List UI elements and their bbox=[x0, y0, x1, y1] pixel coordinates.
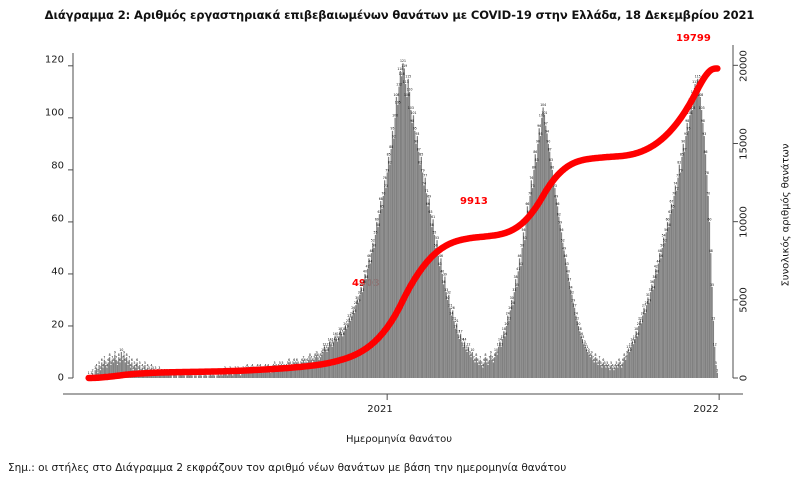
bar-value-label: 2 bbox=[217, 369, 219, 373]
bar-value-label: 66 bbox=[556, 202, 560, 206]
bar bbox=[223, 373, 224, 378]
bar bbox=[536, 162, 537, 378]
bar bbox=[550, 162, 551, 378]
bar-value-label: 103 bbox=[690, 106, 696, 110]
bar-value-label: 12 bbox=[713, 343, 717, 347]
bar bbox=[248, 370, 249, 378]
bar-value-label: 16 bbox=[333, 332, 337, 336]
bar bbox=[660, 258, 661, 378]
bar-value-label: 26 bbox=[451, 306, 455, 310]
bar bbox=[563, 251, 564, 378]
bar-value-label: 8 bbox=[494, 353, 496, 357]
bar bbox=[148, 370, 149, 378]
bar-value-label: 55 bbox=[374, 231, 378, 235]
bar-value-label: 37 bbox=[567, 278, 571, 282]
bar bbox=[308, 360, 309, 378]
bar bbox=[156, 375, 157, 378]
bar bbox=[480, 360, 481, 378]
bar bbox=[102, 368, 103, 378]
bar bbox=[448, 295, 449, 378]
bar-value-label: 2 bbox=[140, 369, 142, 373]
bar bbox=[470, 357, 471, 378]
bar bbox=[611, 365, 612, 378]
bar-value-label: 10 bbox=[119, 348, 123, 352]
bar-value-label: 4 bbox=[147, 363, 149, 367]
bar-value-label: 1 bbox=[183, 371, 185, 375]
bar-value-label: 70 bbox=[706, 192, 710, 196]
axes-layer bbox=[63, 45, 743, 400]
bar-value-label: 6 bbox=[312, 358, 314, 362]
bar-value-label: 3 bbox=[143, 366, 145, 370]
bar bbox=[324, 347, 325, 378]
bar bbox=[219, 375, 220, 378]
bar bbox=[343, 331, 344, 378]
bar bbox=[244, 373, 245, 378]
bar-value-label: 46 bbox=[367, 254, 371, 258]
bar-value-label: 61 bbox=[431, 215, 435, 219]
bar-value-label: 7 bbox=[479, 356, 481, 360]
bar-value-label: 63 bbox=[668, 210, 672, 214]
bar-value-label: 31 bbox=[646, 293, 650, 297]
bar-value-label: 1 bbox=[208, 371, 210, 375]
bar bbox=[554, 188, 555, 378]
bar-value-label: 3 bbox=[276, 366, 278, 370]
bar bbox=[169, 373, 170, 378]
bar-value-label: 56 bbox=[664, 228, 668, 232]
bar-value-label: 3 bbox=[268, 366, 270, 370]
bar bbox=[123, 355, 124, 378]
bar bbox=[281, 368, 282, 378]
bar-value-label: 6 bbox=[477, 358, 479, 362]
bar-value-label: 108 bbox=[697, 93, 703, 97]
bar bbox=[463, 347, 464, 378]
bar bbox=[438, 256, 439, 378]
bar-value-label: 14 bbox=[332, 337, 336, 341]
bar bbox=[317, 357, 318, 378]
bar-value-label: 3 bbox=[261, 366, 263, 370]
bar bbox=[253, 370, 254, 378]
bar bbox=[326, 352, 327, 378]
bar-value-label: 110 bbox=[693, 88, 699, 92]
bar-value-label: 34 bbox=[651, 285, 655, 289]
bar-value-label: 27 bbox=[448, 304, 452, 308]
bar-value-label: 76 bbox=[529, 176, 533, 180]
x-axis-label: Ημερομηνία θανάτου bbox=[346, 434, 452, 445]
bar bbox=[153, 373, 154, 378]
bar bbox=[473, 360, 474, 378]
bar-value-label: 2 bbox=[230, 369, 232, 373]
bar bbox=[670, 214, 671, 378]
bar-value-label: 9 bbox=[114, 350, 116, 354]
bar bbox=[588, 355, 589, 378]
cumulative-line bbox=[89, 68, 718, 378]
bar bbox=[600, 365, 601, 378]
bar bbox=[181, 375, 182, 378]
bar-value-label: 73 bbox=[384, 184, 388, 188]
bar bbox=[269, 370, 270, 378]
bar bbox=[300, 365, 301, 378]
bar-value-label: 93 bbox=[415, 132, 419, 136]
bar bbox=[465, 349, 466, 378]
bar-value-label: 4 bbox=[280, 363, 282, 367]
bar bbox=[205, 373, 206, 378]
bar-value-label: 90 bbox=[536, 140, 540, 144]
bar-value-label: 2 bbox=[220, 369, 222, 373]
bar bbox=[388, 157, 389, 378]
bar bbox=[653, 290, 654, 378]
bar bbox=[467, 352, 468, 378]
bar bbox=[366, 279, 367, 378]
bar-value-label: 9 bbox=[316, 350, 318, 354]
bar-value-label: 15 bbox=[334, 335, 338, 339]
bar-value-label: 3 bbox=[250, 366, 252, 370]
bar bbox=[519, 258, 520, 378]
bar-value-label: 119 bbox=[401, 64, 407, 68]
bar-value-label: 8 bbox=[589, 353, 591, 357]
bar bbox=[288, 362, 289, 378]
bar-value-label: 12 bbox=[330, 343, 334, 347]
bar-value-label: 7 bbox=[313, 356, 315, 360]
bar bbox=[553, 180, 554, 378]
bar bbox=[113, 362, 114, 378]
bar-value-label: 40 bbox=[363, 270, 367, 274]
bar bbox=[393, 139, 394, 378]
bar-value-label: 98 bbox=[701, 119, 705, 123]
bar bbox=[612, 368, 613, 378]
bar-value-label: 40 bbox=[655, 270, 659, 274]
bar bbox=[295, 365, 296, 378]
bar bbox=[371, 253, 372, 378]
bar-value-label: 6 bbox=[124, 358, 126, 362]
bar bbox=[490, 355, 491, 378]
bar bbox=[434, 235, 435, 378]
bar bbox=[481, 365, 482, 378]
bar-value-label: 95 bbox=[687, 127, 691, 131]
bar bbox=[518, 271, 519, 378]
bar-value-label: 4 bbox=[272, 363, 274, 367]
bar bbox=[357, 300, 358, 378]
bar bbox=[401, 76, 402, 378]
bar-value-label: 6 bbox=[113, 358, 115, 362]
bar bbox=[613, 370, 614, 378]
bar-value-label: 4 bbox=[275, 363, 277, 367]
bar bbox=[654, 279, 655, 378]
bar-value-label: 85 bbox=[419, 153, 423, 157]
bar bbox=[206, 375, 207, 378]
bar bbox=[279, 365, 280, 378]
bar-value-label: 4 bbox=[612, 363, 614, 367]
bar-value-label: 6 bbox=[486, 358, 488, 362]
bar bbox=[510, 310, 511, 378]
cumulative-deaths-line bbox=[89, 68, 718, 378]
bar-value-label: 86 bbox=[533, 150, 537, 154]
bar-value-label: 15 bbox=[501, 335, 505, 339]
bar-value-label: 17 bbox=[339, 330, 343, 334]
bar bbox=[265, 368, 266, 378]
bar bbox=[485, 357, 486, 378]
bar-value-label: 10 bbox=[465, 348, 469, 352]
bar-value-label: 6 bbox=[119, 358, 121, 362]
bar-value-label: 3 bbox=[613, 366, 615, 370]
bar-value-label: 14 bbox=[328, 337, 332, 341]
bar-value-label: 5 bbox=[292, 361, 294, 365]
bar-value-label: 5 bbox=[134, 361, 136, 365]
bar-value-label: 76 bbox=[383, 176, 387, 180]
bar-value-label: 7 bbox=[473, 356, 475, 360]
y-axis-label-right: Συνολικός αριθμός θανάτων bbox=[781, 143, 792, 286]
bar bbox=[586, 349, 587, 378]
bar-value-label: 69 bbox=[554, 194, 558, 198]
bar bbox=[376, 222, 377, 378]
bar-value-label: 1 bbox=[90, 371, 92, 375]
bar bbox=[569, 282, 570, 378]
bar-value-label: 5 bbox=[610, 361, 612, 365]
bar-value-label: 9 bbox=[321, 350, 323, 354]
bars-layer bbox=[88, 63, 718, 378]
bar-value-labels: 1123425364754685769758610796857463546352… bbox=[88, 59, 719, 375]
bar bbox=[419, 165, 420, 378]
bar-value-label: 2 bbox=[164, 369, 166, 373]
bar-value-label: 5 bbox=[297, 361, 299, 365]
bar bbox=[497, 355, 498, 378]
bar bbox=[456, 323, 457, 378]
bar bbox=[659, 253, 660, 378]
bar bbox=[129, 360, 130, 378]
bar bbox=[632, 342, 633, 378]
bar bbox=[189, 375, 190, 378]
bar-value-label: 5 bbox=[478, 361, 480, 365]
bar bbox=[260, 368, 261, 378]
bar-value-label: 2 bbox=[157, 369, 159, 373]
bar-value-label: 7 bbox=[115, 356, 117, 360]
bar-value-label: 38 bbox=[514, 275, 518, 279]
bar bbox=[236, 373, 237, 378]
bar-value-label: 6 bbox=[622, 358, 624, 362]
bar-value-label: 2 bbox=[270, 369, 272, 373]
bar-value-label: 1 bbox=[162, 371, 164, 375]
bar-value-label: 5 bbox=[110, 361, 112, 365]
bar bbox=[389, 165, 390, 378]
bar bbox=[675, 185, 676, 378]
bar-value-label: 14 bbox=[630, 337, 634, 341]
bar-value-label: 4 bbox=[96, 363, 98, 367]
bar bbox=[595, 357, 596, 378]
bar bbox=[151, 368, 152, 378]
bar bbox=[605, 368, 606, 378]
bar-value-label: 42 bbox=[366, 265, 370, 269]
bar-value-label: 46 bbox=[439, 254, 443, 258]
bar-value-label: 30 bbox=[355, 296, 359, 300]
bar-value-label: 2 bbox=[209, 369, 211, 373]
bar-value-label: 33 bbox=[649, 288, 653, 292]
bar-value-label: 3 bbox=[237, 366, 239, 370]
bar bbox=[227, 375, 228, 378]
bar bbox=[422, 172, 423, 378]
bar-value-label: 93 bbox=[702, 132, 706, 136]
bar bbox=[713, 321, 714, 378]
bar bbox=[697, 79, 698, 378]
bar-value-label: 24 bbox=[506, 311, 510, 315]
bar-value-label: 5 bbox=[715, 361, 717, 365]
y-tick-left-60: 60 bbox=[51, 214, 64, 225]
y-tick-right-10000: 10000 bbox=[739, 206, 750, 238]
bar bbox=[321, 355, 322, 378]
bar-value-label: 3 bbox=[154, 366, 156, 370]
bar-value-label: 18 bbox=[634, 327, 638, 331]
bar bbox=[319, 360, 320, 378]
bar-value-label: 90 bbox=[414, 140, 418, 144]
bar-value-label: 35 bbox=[710, 283, 714, 287]
bar bbox=[210, 373, 211, 378]
bar-value-label: 3 bbox=[229, 366, 231, 370]
bar-value-label: 12 bbox=[629, 343, 633, 347]
bar-value-label: 108 bbox=[404, 93, 410, 97]
chart-title: Διάγραμμα 2: Αριθμός εργαστηριακά επιβεβ… bbox=[0, 8, 799, 22]
bar bbox=[436, 240, 437, 378]
bar bbox=[168, 375, 169, 378]
bar-value-label: 44 bbox=[656, 259, 660, 263]
bar-value-label: 3 bbox=[253, 366, 255, 370]
bar-value-label: 110 bbox=[407, 88, 413, 92]
bar-value-label: 2 bbox=[182, 369, 184, 373]
bar-value-label: 3 bbox=[152, 366, 154, 370]
bar-value-label: 52 bbox=[371, 239, 375, 243]
bar-value-label: 92 bbox=[392, 134, 396, 138]
bar-value-label: 2 bbox=[204, 369, 206, 373]
bar-value-label: 11 bbox=[324, 345, 328, 349]
bar-value-label: 50 bbox=[520, 244, 524, 248]
bar bbox=[552, 170, 553, 378]
bar bbox=[540, 136, 541, 378]
bar-value-label: 6 bbox=[293, 358, 295, 362]
bar bbox=[671, 204, 672, 378]
bar bbox=[311, 360, 312, 378]
bar bbox=[704, 136, 705, 378]
bar-value-label: 36 bbox=[442, 280, 446, 284]
bar bbox=[537, 144, 538, 378]
bar bbox=[391, 149, 392, 378]
bar bbox=[512, 305, 513, 378]
bar bbox=[499, 342, 500, 378]
bar-value-label: 20 bbox=[505, 322, 509, 326]
bar-value-label: 5 bbox=[305, 361, 307, 365]
y-tick-right-0: 0 bbox=[739, 375, 750, 381]
bar-value-label: 67 bbox=[670, 200, 674, 204]
bar bbox=[672, 209, 673, 378]
bar-value-label: 94 bbox=[545, 129, 549, 133]
bar-value-label: 87 bbox=[548, 147, 552, 151]
bar bbox=[649, 303, 650, 378]
bar-value-label: 2 bbox=[187, 369, 189, 373]
bar-value-label: 55 bbox=[432, 231, 436, 235]
bar bbox=[381, 209, 382, 378]
bar-value-label: 3 bbox=[242, 366, 244, 370]
bar-value-label: 4 bbox=[130, 363, 132, 367]
bar bbox=[164, 373, 165, 378]
bar-value-label: 82 bbox=[677, 160, 681, 164]
bar bbox=[380, 201, 381, 378]
bar bbox=[592, 360, 593, 378]
bar bbox=[681, 157, 682, 378]
bar bbox=[282, 365, 283, 378]
bar bbox=[523, 232, 524, 378]
bar bbox=[402, 63, 403, 378]
bar-value-label: 3 bbox=[234, 366, 236, 370]
bar-value-label: 46 bbox=[563, 254, 567, 258]
bar bbox=[334, 336, 335, 378]
bar bbox=[152, 370, 153, 378]
bar bbox=[442, 274, 443, 378]
bar bbox=[109, 357, 110, 378]
bar-value-label: 5 bbox=[116, 361, 118, 365]
bar-value-label: 4 bbox=[601, 363, 603, 367]
bar bbox=[194, 375, 195, 378]
bar bbox=[383, 196, 384, 378]
bar bbox=[161, 373, 162, 378]
bar-value-label: 1 bbox=[194, 371, 196, 375]
bar bbox=[409, 92, 410, 378]
bar bbox=[171, 375, 172, 378]
bar-value-label: 6 bbox=[593, 358, 595, 362]
bar-value-label: 7 bbox=[318, 356, 320, 360]
bar bbox=[646, 305, 647, 378]
bar-value-label: 58 bbox=[430, 223, 434, 227]
bar-value-label: 3 bbox=[271, 366, 273, 370]
bar-value-label: 3 bbox=[224, 366, 226, 370]
bar bbox=[601, 368, 602, 378]
bar bbox=[184, 375, 185, 378]
bar-value-label: 74 bbox=[422, 181, 426, 185]
bar bbox=[209, 375, 210, 378]
bar-value-label: 77 bbox=[423, 173, 427, 177]
bar-value-label: 5 bbox=[144, 361, 146, 365]
bar bbox=[663, 238, 664, 378]
bar-value-label: 5 bbox=[295, 361, 297, 365]
bar bbox=[305, 365, 306, 378]
bar bbox=[363, 284, 364, 378]
bar bbox=[635, 331, 636, 378]
bar-value-label: 4 bbox=[299, 363, 301, 367]
bar-value-label: 79 bbox=[385, 168, 389, 172]
bar bbox=[561, 232, 562, 378]
bar-value-label: 5 bbox=[127, 361, 129, 365]
bar bbox=[464, 342, 465, 378]
bar bbox=[486, 362, 487, 378]
bar bbox=[484, 362, 485, 378]
bar bbox=[642, 316, 643, 378]
bar-value-label: 40 bbox=[440, 270, 444, 274]
bar bbox=[336, 339, 337, 378]
bar-value-label: 29 bbox=[357, 298, 361, 302]
bar-value-label: 14 bbox=[498, 337, 502, 341]
bar bbox=[143, 370, 144, 378]
bar-value-label: 1 bbox=[216, 371, 218, 375]
bar bbox=[629, 352, 630, 378]
bar bbox=[423, 185, 424, 378]
bar bbox=[549, 152, 550, 378]
bar-value-label: 13 bbox=[632, 340, 636, 344]
bar-value-label: 28 bbox=[511, 301, 515, 305]
bar bbox=[429, 198, 430, 378]
bar-value-label: 63 bbox=[527, 210, 531, 214]
bar bbox=[146, 373, 147, 378]
bar-value-label: 6 bbox=[296, 358, 298, 362]
bar bbox=[157, 373, 158, 378]
bar bbox=[447, 300, 448, 378]
bar-value-label: 60 bbox=[375, 218, 379, 222]
bar bbox=[532, 188, 533, 378]
bar bbox=[626, 355, 627, 378]
